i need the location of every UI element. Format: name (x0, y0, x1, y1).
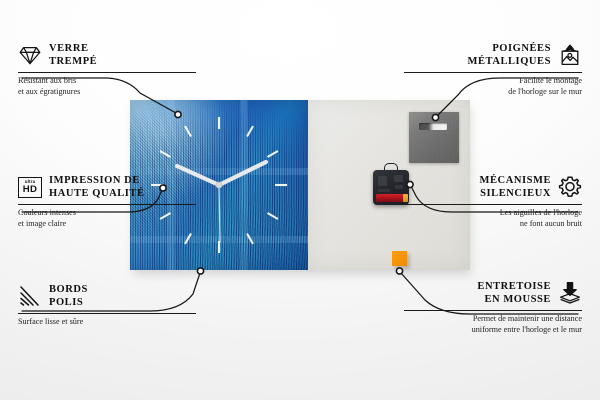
feature-impression-haute-qualite: ultra HD IMPRESSION DE HAUTE QUALITÉ Cou… (18, 174, 196, 230)
mechanism-battery (376, 194, 407, 203)
infographic-stage: VERRE TREMPÉ Résistant aux bris et aux é… (0, 0, 600, 400)
feature-bords-polis: BORDS POLIS Surface lisse et sûre (18, 283, 196, 328)
feature-header: POIGNÉES MÉTALLIQUES (404, 42, 582, 69)
mechanism-detail (378, 176, 387, 186)
ultra-hd-icon: ultra HD (18, 175, 42, 199)
feature-header: BORDS POLIS (18, 283, 196, 310)
feature-description: Surface lisse et sûre (18, 317, 196, 328)
feature-description: Couleurs intenses et image claire (18, 208, 196, 230)
hanger-keyhole-slot (419, 123, 447, 130)
divider (18, 204, 196, 205)
mechanism-detail (378, 189, 390, 192)
feature-description: Facilite le montage de l'horloge sur le … (404, 76, 582, 98)
feature-header: VERRE TREMPÉ (18, 42, 196, 69)
feature-title: MÉCANISME SILENCIEUX (480, 174, 551, 201)
down-arrow-pad-icon (558, 281, 582, 305)
feature-title: ENTRETOISE EN MOUSSE (477, 280, 551, 307)
feature-header: MÉCANISME SILENCIEUX (404, 174, 582, 201)
feature-title: POIGNÉES MÉTALLIQUES (468, 42, 551, 69)
feature-title: BORDS POLIS (49, 283, 88, 310)
feature-description: Résistant aux bris et aux égratignures (18, 76, 196, 98)
feature-mecanisme-silencieux: MÉCANISME SILENCIEUX Les aiguilles de l'… (404, 174, 582, 230)
divider (404, 72, 582, 73)
foam-spacer-block (392, 251, 407, 266)
polished-edges-icon (18, 284, 42, 308)
divider (18, 72, 196, 73)
feature-entretoise-en-mousse: ENTRETOISE EN MOUSSE Permet de maintenir… (404, 280, 582, 336)
metal-hanger-plate (409, 112, 459, 163)
mechanism-detail (394, 175, 403, 182)
feature-title: IMPRESSION DE HAUTE QUALITÉ (49, 174, 145, 201)
ultra-hd-icon-main-label: HD (23, 185, 37, 195)
feature-verre-trempe: VERRE TREMPÉ Résistant aux bris et aux é… (18, 42, 196, 98)
feature-header: ultra HD IMPRESSION DE HAUTE QUALITÉ (18, 174, 196, 201)
gear-icon (558, 175, 582, 199)
picture-frame-hanger-icon (558, 43, 582, 67)
mechanism-detail (395, 185, 403, 189)
feature-poignees-metalliques: POIGNÉES MÉTALLIQUES Facilite le montage… (404, 42, 582, 98)
divider (404, 310, 582, 311)
feature-description: Permet de maintenir une distance uniform… (404, 314, 582, 336)
feature-header: ENTRETOISE EN MOUSSE (404, 280, 582, 307)
divider (404, 204, 582, 205)
feature-title: VERRE TREMPÉ (49, 42, 97, 69)
divider (18, 313, 196, 314)
feature-description: Les aiguilles de l'horloge ne font aucun… (404, 208, 582, 230)
diamond-icon (18, 43, 42, 67)
